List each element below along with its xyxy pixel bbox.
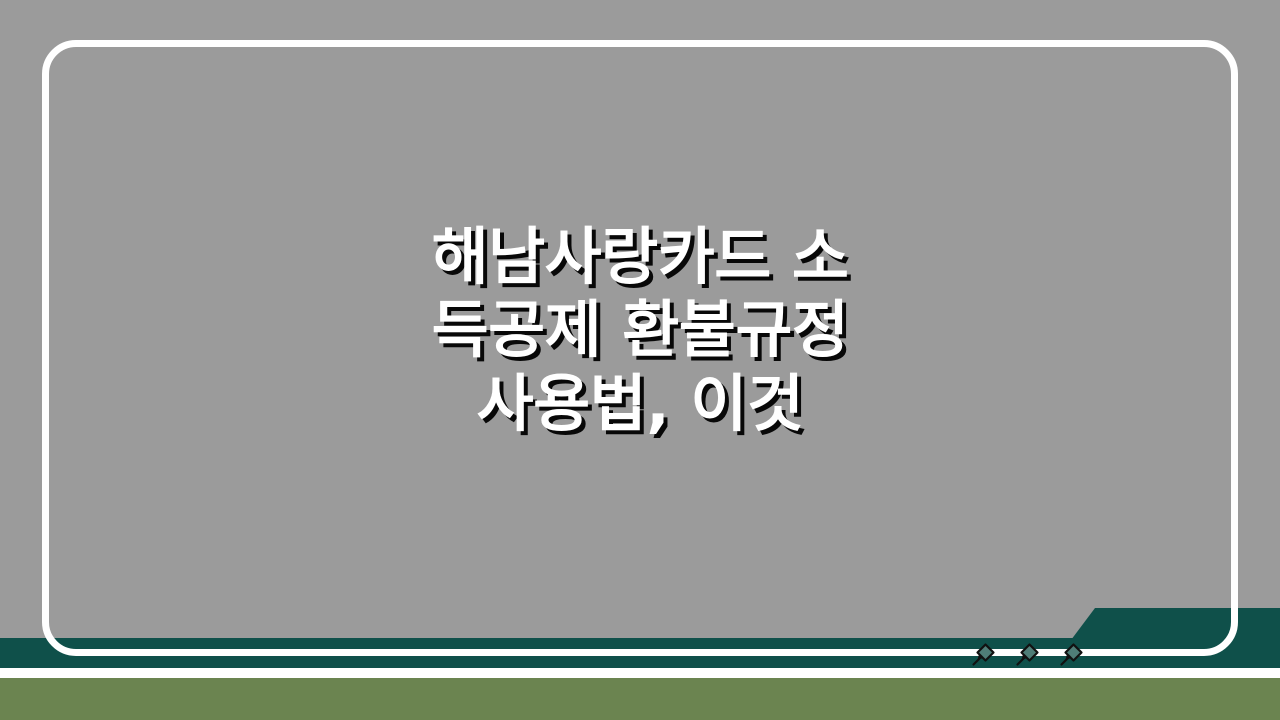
thumbnail-canvas: 해남사랑카드 소 득공제 환불규정 사용법, 이것 <box>0 0 1280 720</box>
page-title-line-3: 사용법, 이것 <box>310 367 970 440</box>
page-title: 해남사랑카드 소 득공제 환불규정 사용법, 이것 <box>310 220 970 439</box>
page-title-line-2: 득공제 환불규정 <box>310 293 970 366</box>
pushpin-decoration-row <box>968 640 1086 670</box>
pushpin-icon <box>968 640 998 670</box>
pushpin-icon <box>1012 640 1042 670</box>
pushpin-icon <box>1056 640 1086 670</box>
page-title-line-1: 해남사랑카드 소 <box>310 220 970 293</box>
headline-container: 해남사랑카드 소 득공제 환불규정 사용법, 이것 <box>0 0 1280 720</box>
